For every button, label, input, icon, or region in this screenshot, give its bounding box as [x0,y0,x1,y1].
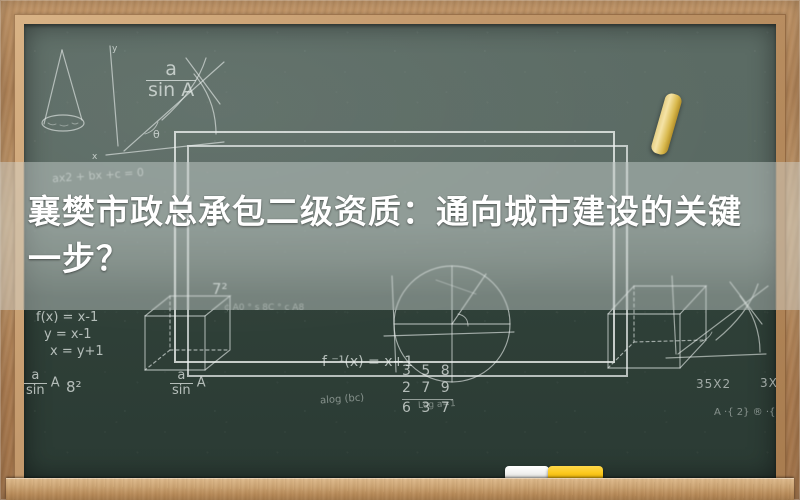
page-title: 襄樊市政总承包二级资质：通向城市建设的关键一步？ [28,189,748,283]
headline-container: 襄樊市政总承包二级资质：通向城市建设的关键一步？ [0,162,800,310]
article-cover-scene: asin A y x θ ax2 + bx +c = 0 35X2 3X2 A … [0,0,800,500]
cone-icon [42,50,84,131]
chalk-ledge [6,478,794,500]
